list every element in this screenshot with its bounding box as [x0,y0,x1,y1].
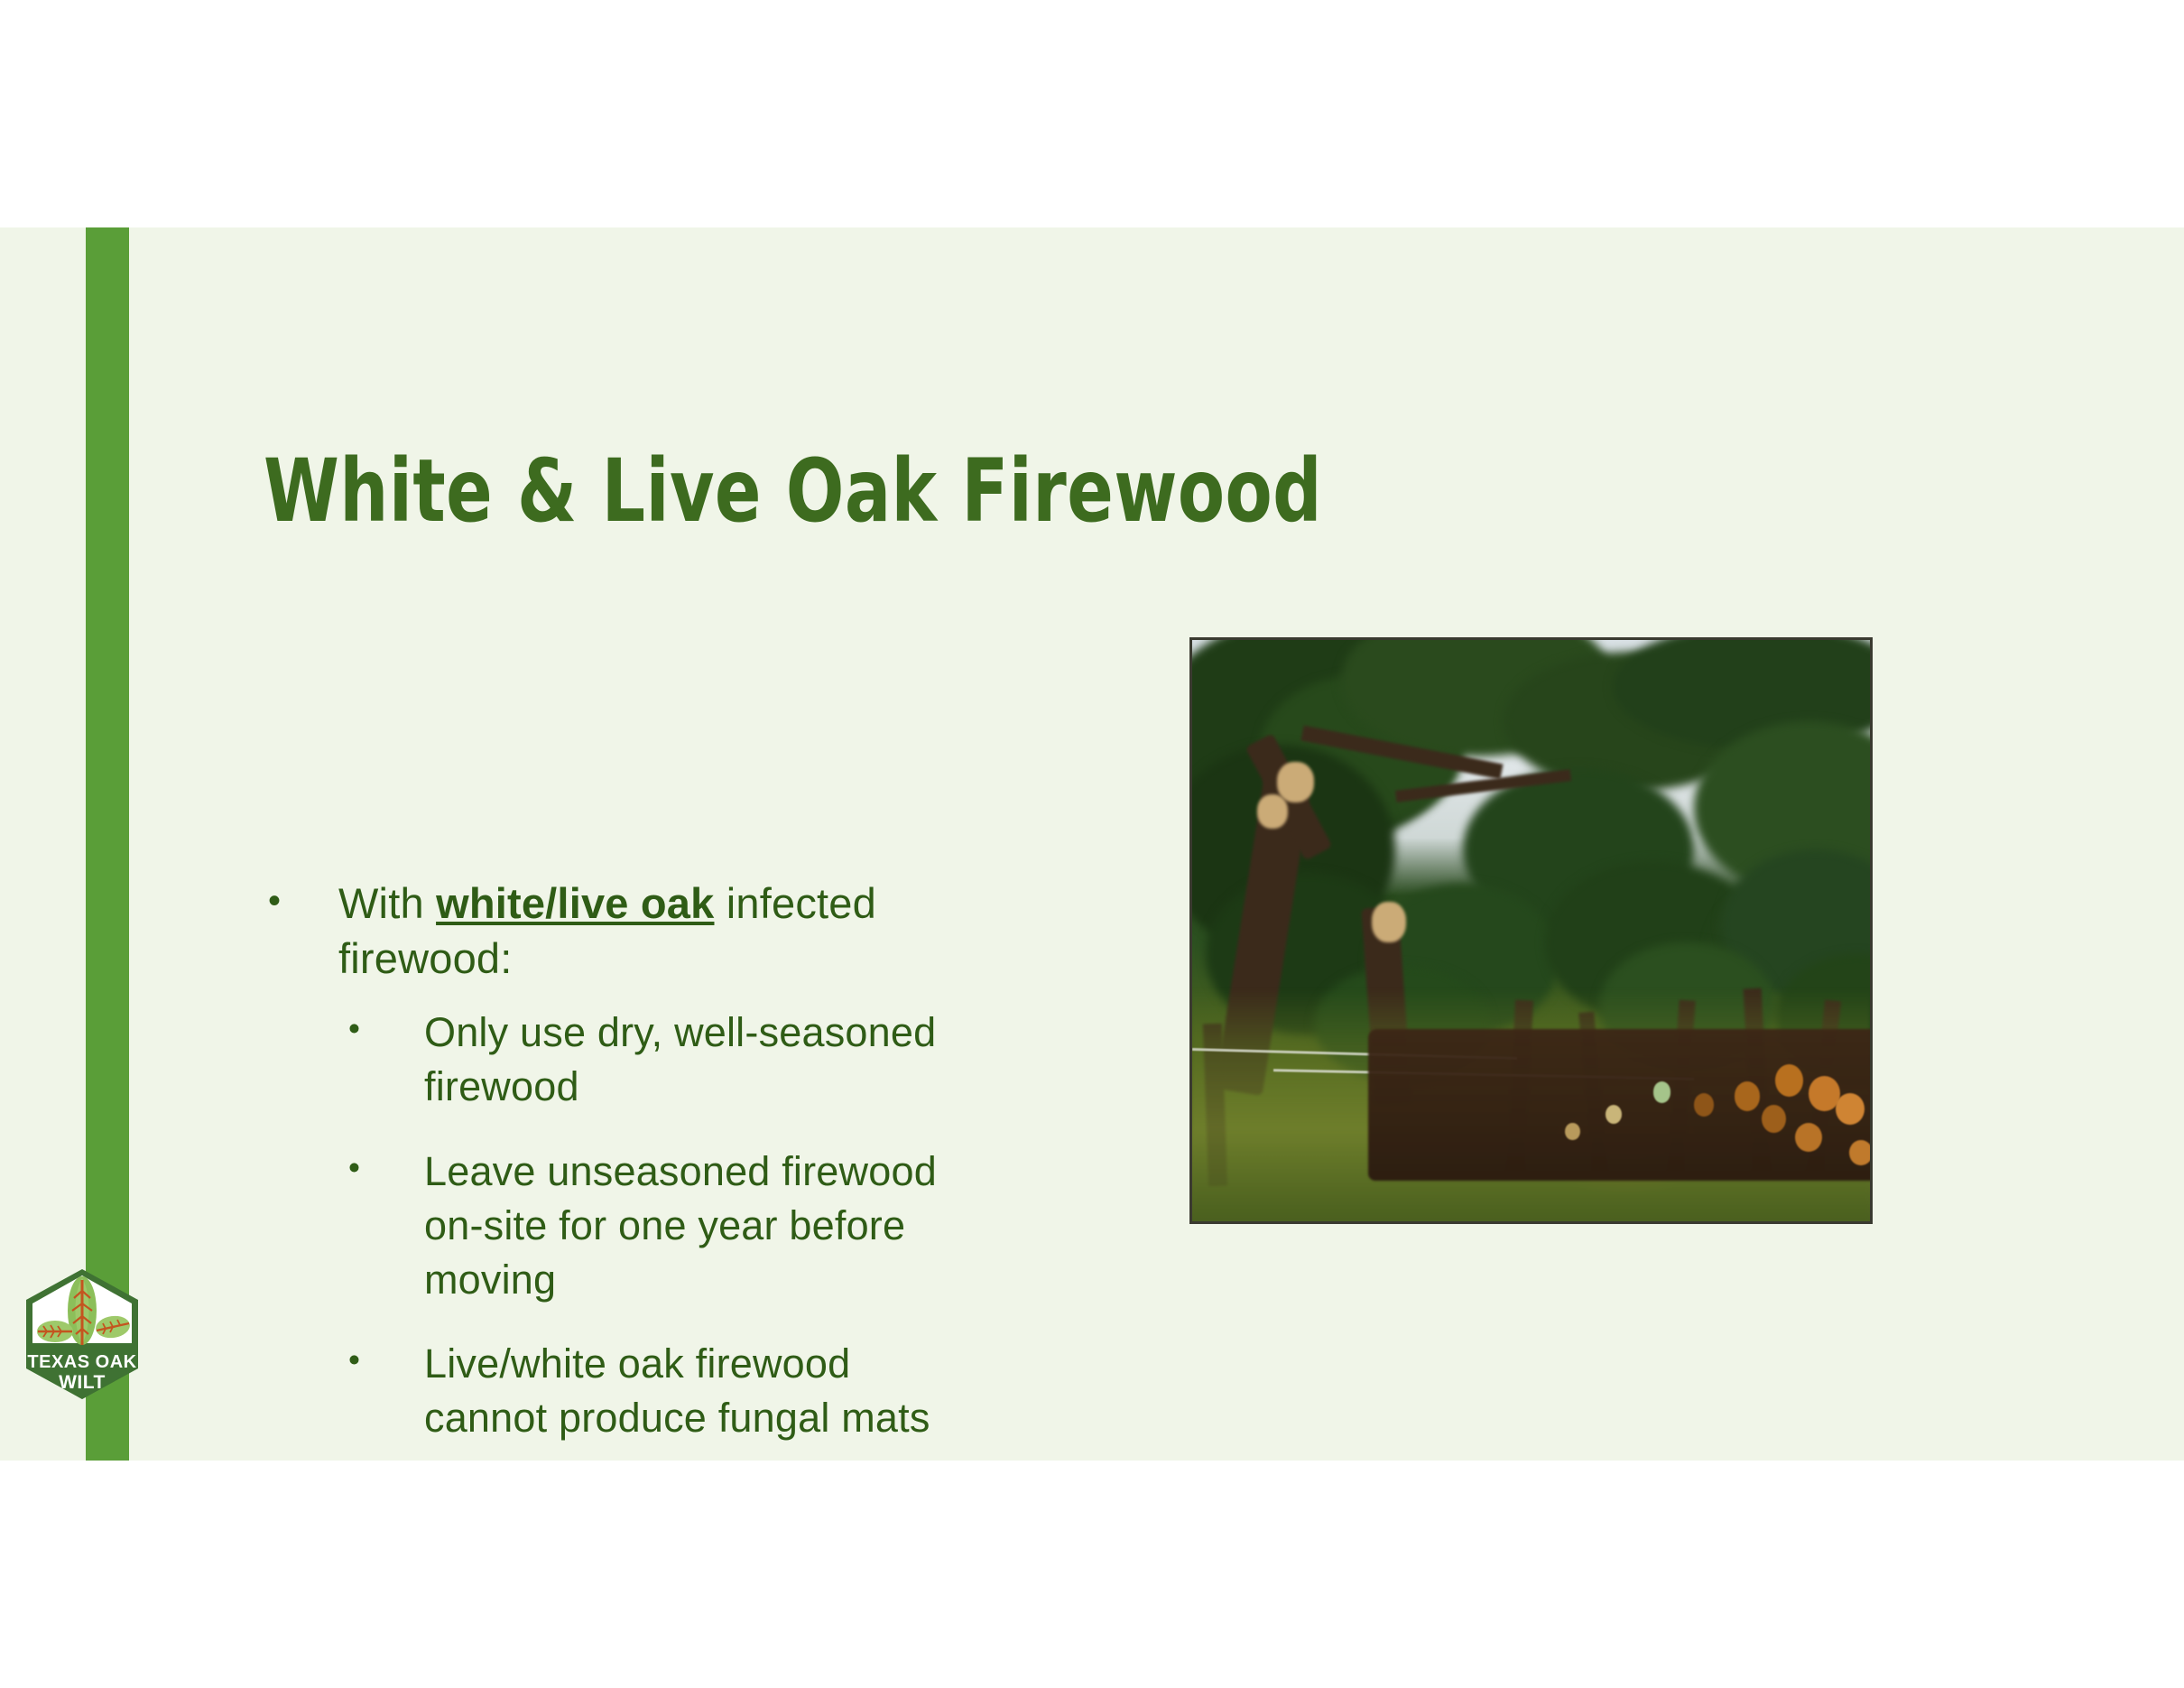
list-item: • Only use dry, well-seasoned firewood [253,1006,975,1114]
photo-scene [1192,640,1870,1221]
sub-bullet-list: • Only use dry, well-seasoned firewood •… [253,1006,975,1445]
firewood-photo [1189,637,1873,1224]
list-item: • Leave unseasoned firewood on-site for … [253,1145,975,1307]
bullet-marker-icon: • [268,877,281,924]
bullet-text-before: With [338,879,436,927]
page-title: White & Live Oak Firewood [264,446,1322,537]
slide-canvas: White & Live Oak Firewood • With white/l… [0,227,2184,1461]
bullet-marker-icon: • [348,1145,360,1190]
bullet-marker-icon: • [348,1006,360,1051]
sub-bullet-label: Live/white oak firewood cannot produce f… [424,1340,930,1441]
texas-oak-wilt-logo: TEXAS OAK WILT [20,1267,144,1403]
logo-line-2: WILT [59,1372,106,1393]
oak-leaf-left [37,1321,73,1342]
logo-line-1: TEXAS OAK [27,1352,136,1372]
firewood-stack [1368,1029,1873,1180]
sub-bullet-label: Leave unseasoned firewood on-site for on… [424,1148,937,1303]
bullet-list: • With white/live oak infected firewood:… [253,876,975,1476]
list-item: • Live/white oak firewood cannot produce… [253,1337,975,1445]
list-item: • With white/live oak infected firewood: [253,876,975,986]
bullet-marker-icon: • [348,1338,360,1382]
sub-bullet-label: Only use dry, well-seasoned firewood [424,1009,936,1109]
bullet-text-emphasis: white/live oak [436,879,714,927]
